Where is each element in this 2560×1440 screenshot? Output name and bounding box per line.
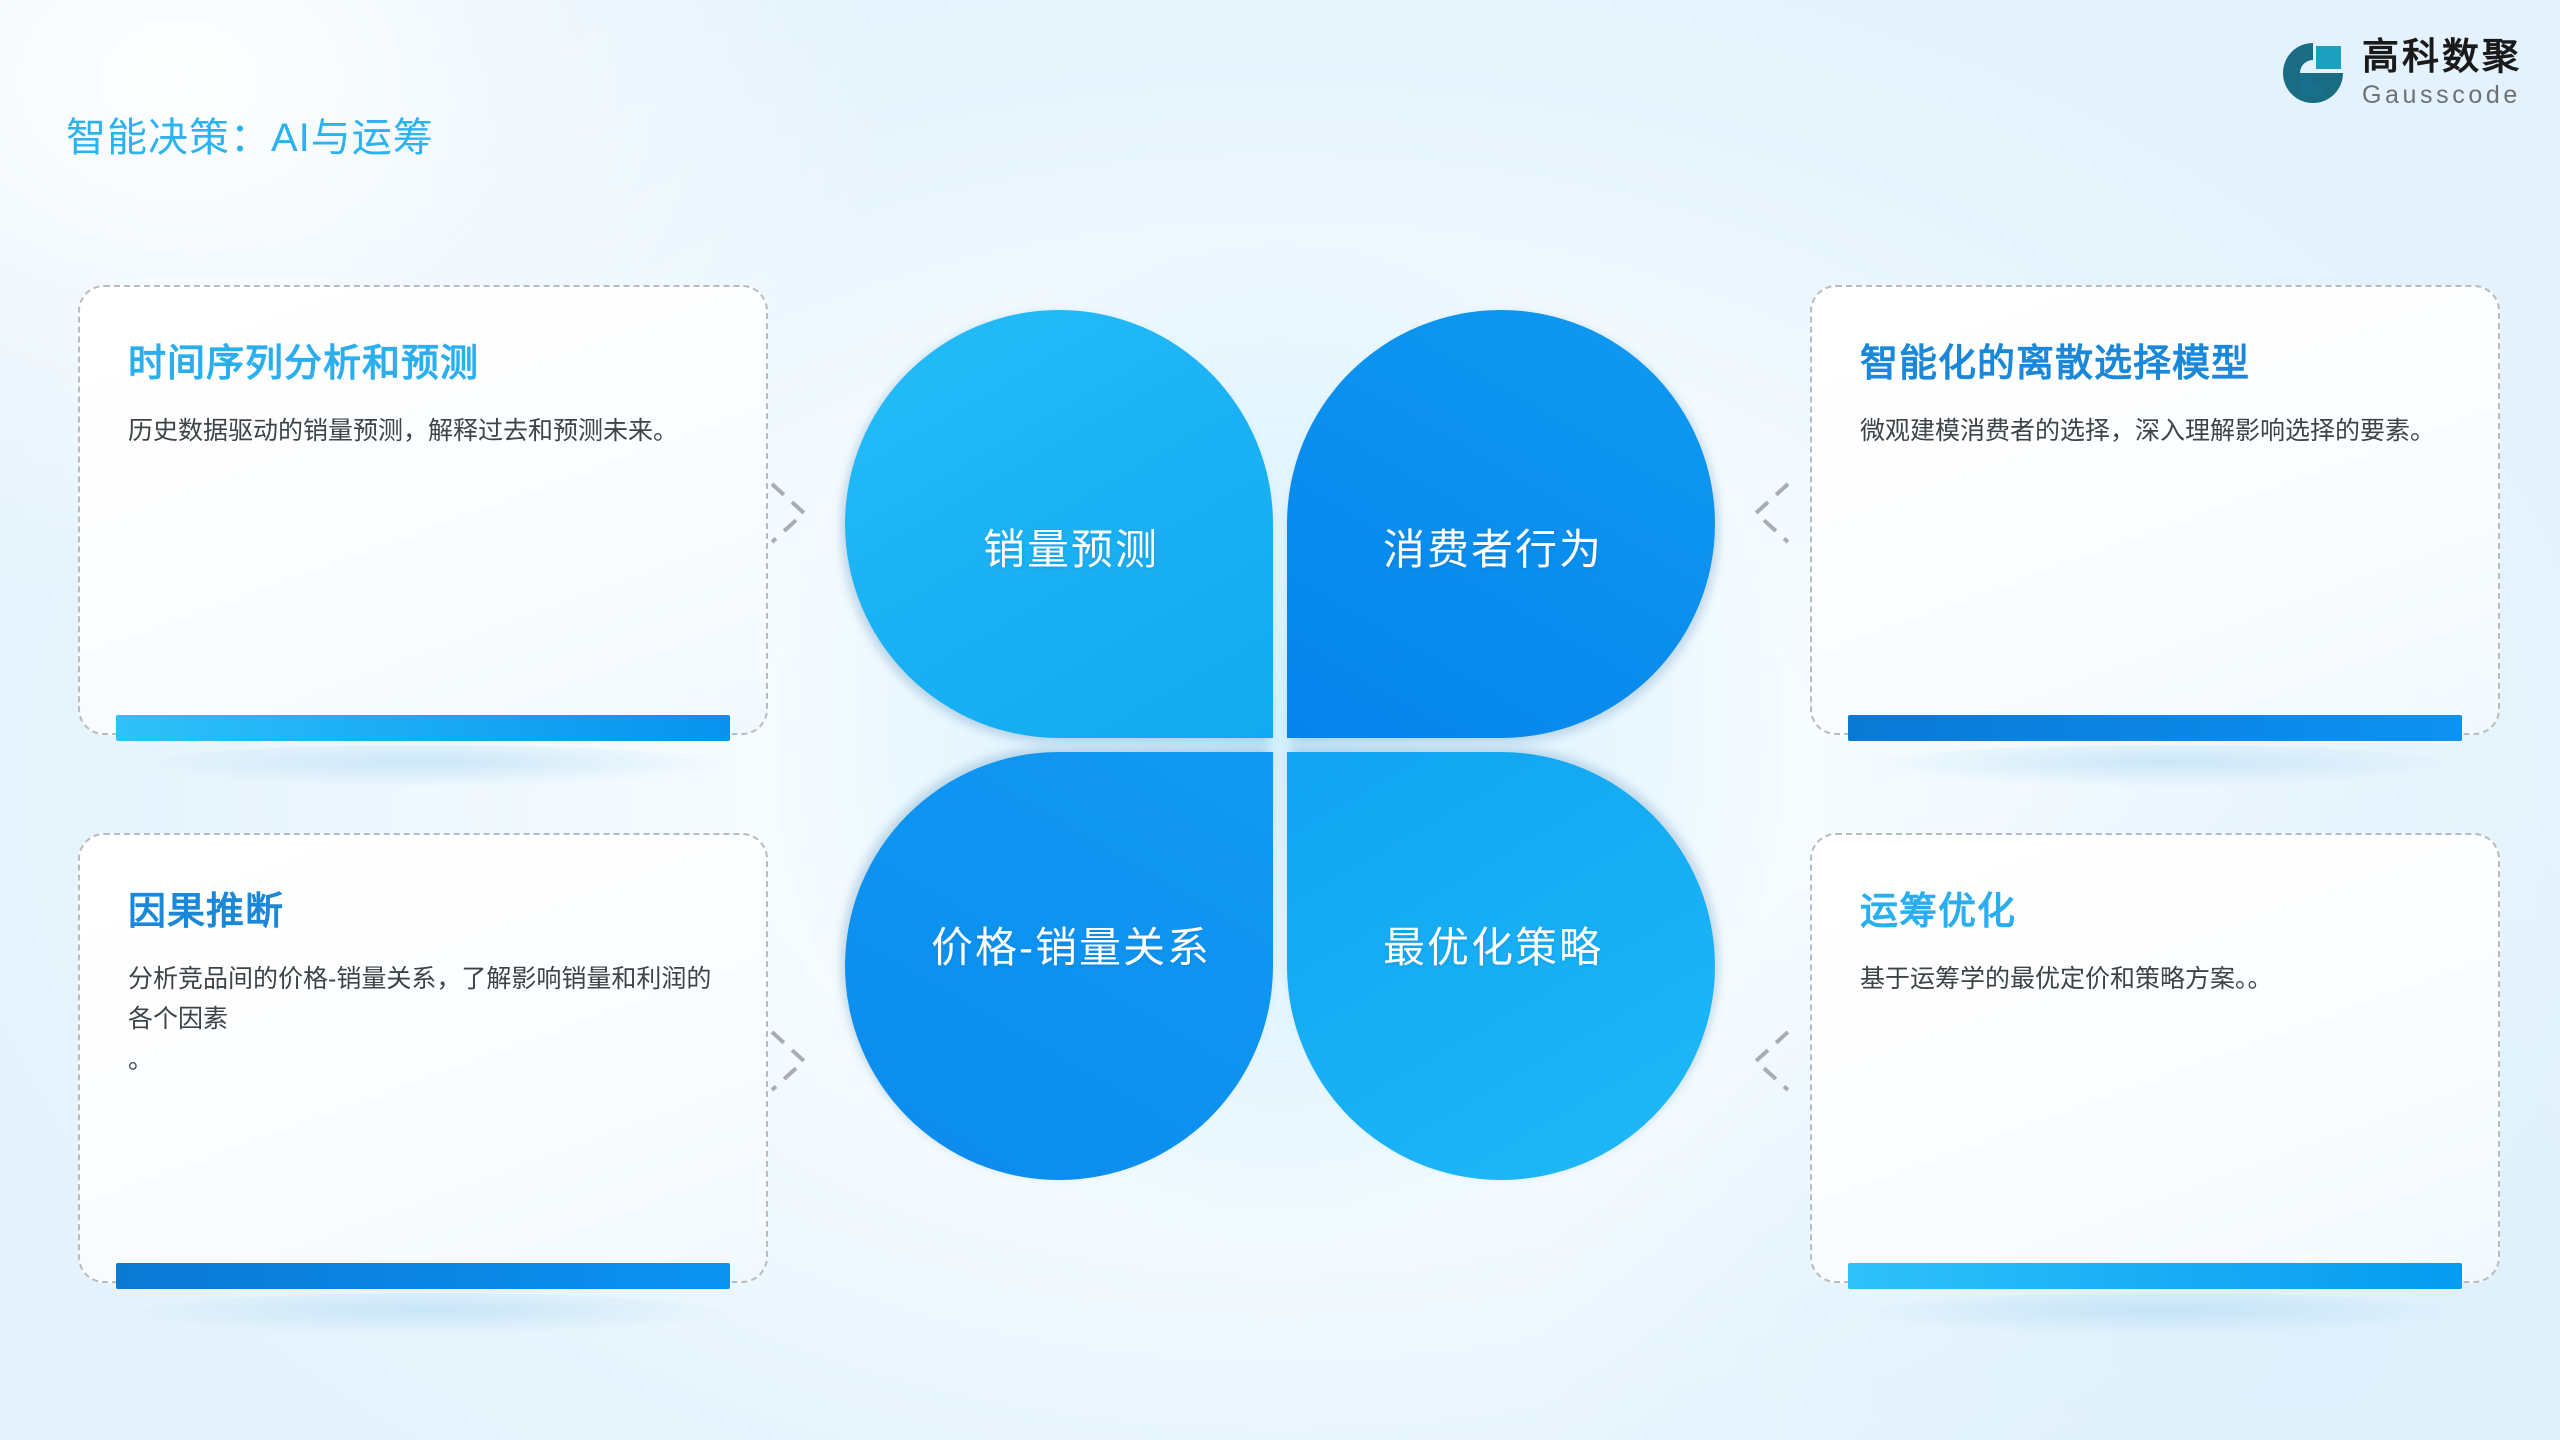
logo-name-en: Gausscode — [2362, 83, 2522, 108]
gausscode-logo-icon — [2280, 40, 2346, 106]
card-operations-optimization[interactable]: 运筹优化 基于运筹学的最优定价和策略方案。。 — [1810, 833, 2500, 1283]
card-description: 微观建模消费者的选择，深入理解影响选择的要素。 — [1860, 411, 2450, 452]
logo-wordmark: 高科数聚 Gausscode — [2362, 38, 2522, 108]
petal-sales-forecast[interactable]: 销量预测 — [845, 310, 1273, 738]
card-description: 历史数据驱动的销量预测，解释过去和预测未来。 — [128, 411, 718, 452]
card-causal-inference[interactable]: 因果推断 分析竞品间的价格-销量关系，了解影响销量和利润的各个因素 。 — [78, 833, 768, 1283]
card-drop-shadow — [130, 1293, 730, 1335]
petal-label: 消费者行为 — [1383, 516, 1603, 577]
petal-consumer-behavior[interactable]: 消费者行为 — [1287, 310, 1715, 738]
card-title: 因果推断 — [128, 889, 718, 937]
petal-label: 最优化策略 — [1383, 914, 1603, 975]
connector-chevron-left-icon — [1748, 1026, 1794, 1096]
connector-chevron-right-icon — [766, 1026, 812, 1096]
card-drop-shadow — [130, 745, 730, 787]
card-time-series-analysis[interactable]: 时间序列分析和预测 历史数据驱动的销量预测，解释过去和预测未来。 — [78, 285, 768, 735]
logo-name-cn: 高科数聚 — [2362, 38, 2522, 75]
card-drop-shadow — [1862, 745, 2462, 787]
card-drop-shadow — [1862, 1293, 2462, 1335]
connector-chevron-right-icon — [766, 478, 812, 548]
card-description: 分析竞品间的价格-销量关系，了解影响销量和利润的各个因素 。 — [128, 959, 718, 1081]
petal-price-volume-relationship[interactable]: 价格-销量关系 — [845, 752, 1273, 1180]
clover-diagram: 销量预测 消费者行为 价格-销量关系 最优化策略 — [845, 310, 1715, 1180]
petal-optimal-strategy[interactable]: 最优化策略 — [1287, 752, 1715, 1180]
card-title: 运筹优化 — [1860, 889, 2450, 937]
page-title: 智能决策：AI与运筹 — [66, 105, 434, 163]
slide-canvas: 智能决策：AI与运筹 高科数聚 Gausscode 销量预测 消费者行为 价格-… — [0, 0, 2560, 1440]
card-description: 基于运筹学的最优定价和策略方案。。 — [1860, 959, 2450, 1000]
brand-logo: 高科数聚 Gausscode — [2280, 38, 2522, 108]
card-title: 智能化的离散选择模型 — [1860, 341, 2450, 389]
petal-label: 价格-销量关系 — [931, 914, 1211, 975]
petal-label: 销量预测 — [983, 516, 1159, 577]
card-title: 时间序列分析和预测 — [128, 341, 718, 389]
connector-chevron-left-icon — [1748, 478, 1794, 548]
card-discrete-choice-model[interactable]: 智能化的离散选择模型 微观建模消费者的选择，深入理解影响选择的要素。 — [1810, 285, 2500, 735]
